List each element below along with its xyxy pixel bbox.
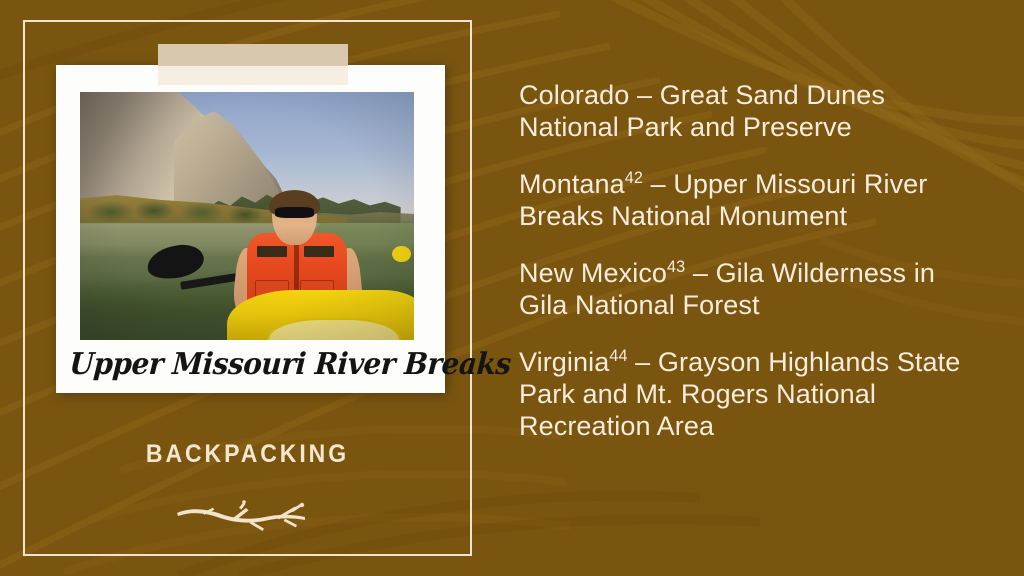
destination-state-montana: Montana — [519, 169, 625, 199]
photo-life-vest-strap-right — [304, 246, 334, 257]
footnote-ref-43: 43 — [667, 258, 685, 276]
destination-item-virginia: Virginia44 – Grayson Highlands State Par… — [519, 347, 989, 442]
destination-item-montana: Montana42 – Upper Missouri River Breaks … — [519, 169, 989, 232]
destination-state-new-mexico: New Mexico — [519, 258, 667, 288]
kayaking-photo — [80, 92, 414, 340]
tape-strip-upper — [158, 44, 348, 66]
destination-text-colorado: Colorado – Great Sand Dunes National Par… — [519, 80, 885, 142]
destination-item-colorado: Colorado – Great Sand Dunes National Par… — [519, 80, 989, 143]
footnote-ref-44: 44 — [609, 347, 627, 365]
activity-label: BACKPACKING — [41, 440, 454, 469]
polaroid-caption: Upper Missouri River Breaks — [68, 347, 432, 382]
destination-item-new-mexico: New Mexico43 – Gila Wilderness in Gila N… — [519, 258, 989, 321]
footnote-ref-42: 42 — [625, 169, 643, 187]
twig-icon — [173, 495, 323, 535]
presentation-slide: Upper Missouri River Breaks BACKPACKING — [0, 0, 1024, 576]
polaroid-card: Upper Missouri River Breaks — [56, 65, 445, 393]
twig-branch-ornament — [23, 492, 472, 538]
tape-strip-lower — [158, 66, 348, 85]
photo-sunglasses — [275, 207, 313, 217]
destination-state-virginia: Virginia — [519, 347, 609, 377]
photo-kayak-fitting — [392, 246, 410, 262]
destination-list: Colorado – Great Sand Dunes National Par… — [519, 80, 989, 442]
photo-life-vest-strap-left — [257, 246, 287, 257]
